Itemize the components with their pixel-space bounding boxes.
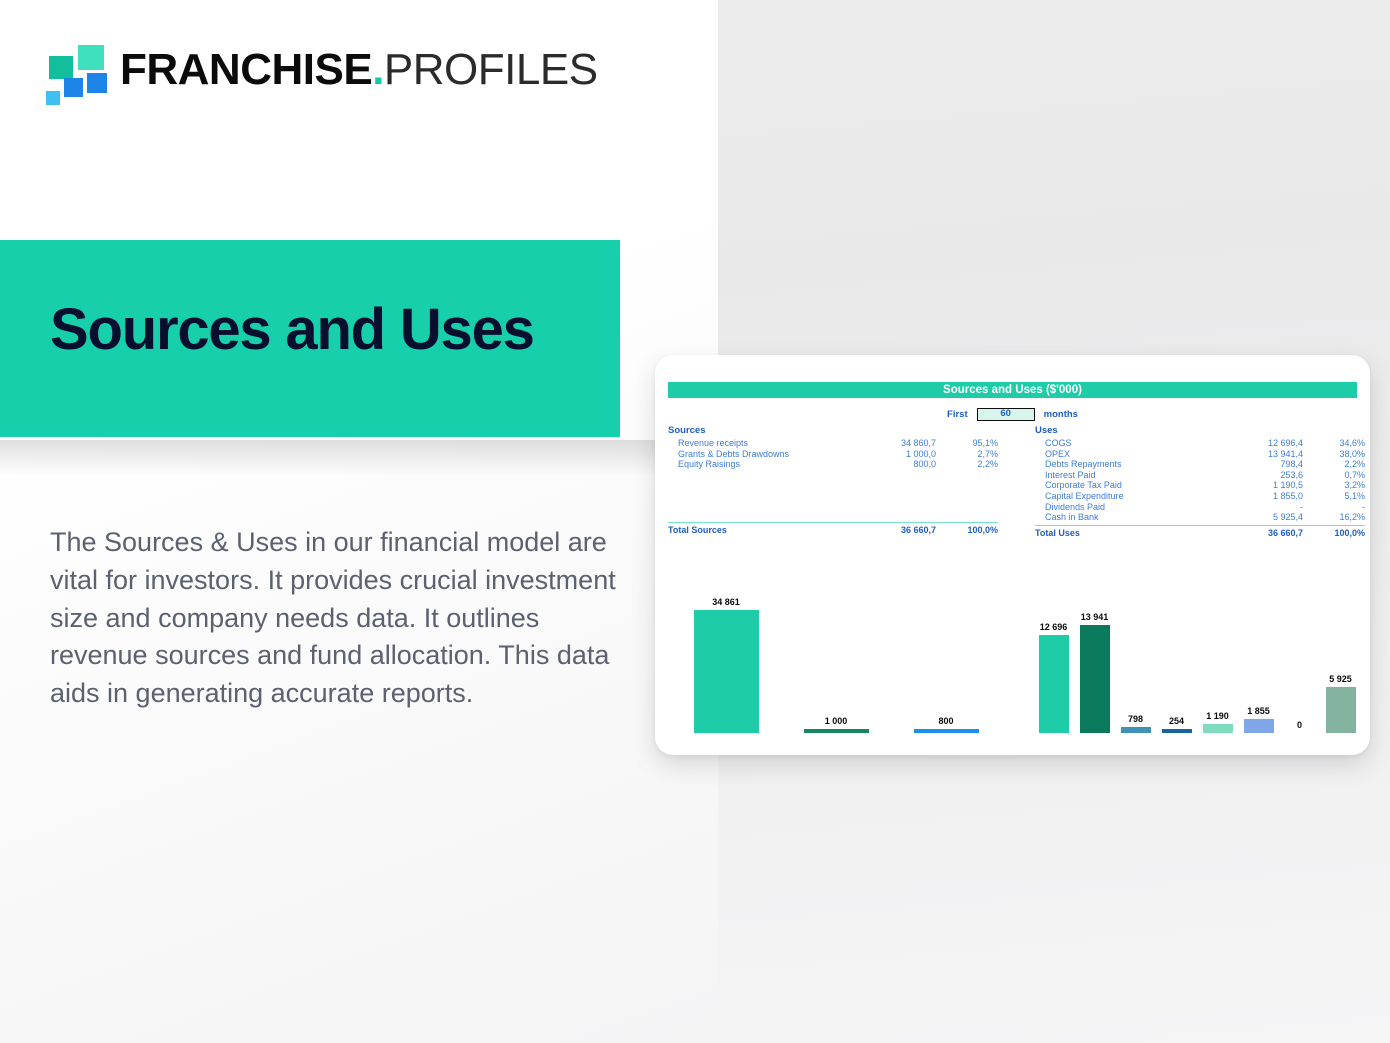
bar-value-label: 254 xyxy=(1169,716,1184,726)
logo-square-teal-dark xyxy=(49,56,73,79)
row-percent: 16,2% xyxy=(1303,512,1365,523)
row-percent: 95,1% xyxy=(936,438,998,449)
sources-heading: Sources xyxy=(668,425,998,436)
sources-bars: 34 8611 000800 xyxy=(671,583,1001,733)
bar xyxy=(1039,635,1069,733)
bar-group: 34 861 xyxy=(671,583,781,733)
row-percent: 3,2% xyxy=(1303,480,1365,491)
row-label: Grants & Debts Drawdowns xyxy=(668,449,852,460)
bar-group: 12 696 xyxy=(1033,583,1074,733)
row-value: 1 855,0 xyxy=(1219,491,1303,502)
bar-value-label: 34 861 xyxy=(712,597,740,607)
bar xyxy=(1121,727,1151,733)
bar-value-label: 798 xyxy=(1128,714,1143,724)
sheet-title-bar: Sources and Uses ($'000) xyxy=(668,382,1357,398)
table-row: Equity Raisings800,02,2% xyxy=(668,459,998,470)
row-percent: 2,2% xyxy=(936,459,998,470)
bar-value-label: 1 190 xyxy=(1206,711,1229,721)
row-percent: 2,7% xyxy=(936,449,998,460)
uses-rows: COGS12 696,434,6%OPEX13 941,438,0%Debts … xyxy=(1035,438,1365,523)
bar-value-label: 13 941 xyxy=(1081,612,1109,622)
bar-group: 0 xyxy=(1279,583,1320,733)
bar-group: 1 855 xyxy=(1238,583,1279,733)
table-row: Capital Expenditure1 855,05,1% xyxy=(1035,491,1365,502)
uses-bars: 12 69613 9417982541 1901 85505 925 xyxy=(1033,583,1363,733)
row-label: Capital Expenditure xyxy=(1035,491,1219,502)
logo-square-cyan-small xyxy=(46,91,60,105)
bar-group: 800 xyxy=(891,583,1001,733)
sources-total-label: Total Sources xyxy=(668,524,852,536)
uses-total-value: 36 660,7 xyxy=(1219,527,1303,539)
row-percent: - xyxy=(1303,502,1365,513)
page-title: Sources and Uses xyxy=(50,300,534,361)
row-label: Revenue receipts xyxy=(668,438,852,449)
hero-banner: Sources and Uses xyxy=(0,240,620,437)
logo-squares-icon xyxy=(46,44,108,96)
uses-table: Uses COGS12 696,434,6%OPEX13 941,438,0%D… xyxy=(1035,425,1365,539)
table-row: COGS12 696,434,6% xyxy=(1035,438,1365,449)
bar-group: 1 190 xyxy=(1197,583,1238,733)
bar-group: 254 xyxy=(1156,583,1197,733)
row-value: 12 696,4 xyxy=(1219,438,1303,449)
bar xyxy=(694,610,759,733)
uses-total-label: Total Uses xyxy=(1035,527,1219,539)
bar-value-label: 800 xyxy=(938,716,953,726)
row-percent: 0,7% xyxy=(1303,470,1365,481)
sources-table: Sources Revenue receipts34 860,795,1%Gra… xyxy=(668,425,998,536)
row-value: 798,4 xyxy=(1219,459,1303,470)
row-value: 34 860,7 xyxy=(852,438,936,449)
body-paragraph: The Sources & Uses in our financial mode… xyxy=(50,524,620,713)
row-label: Cash in Bank xyxy=(1035,512,1219,523)
row-label: Equity Raisings xyxy=(668,459,852,470)
background-left-panel xyxy=(0,0,718,1043)
bar xyxy=(1326,687,1356,733)
row-value: - xyxy=(1219,502,1303,513)
bar-group: 5 925 xyxy=(1320,583,1361,733)
sources-bar-chart: 34 8611 000800 xyxy=(671,583,1001,733)
bar xyxy=(1080,625,1110,733)
row-value: 800,0 xyxy=(852,459,936,470)
brand-logo: FRANCHISE.PROFILES xyxy=(46,44,598,96)
row-value: 1 000,0 xyxy=(852,449,936,460)
bar xyxy=(1244,719,1274,733)
table-row: Interest Paid253,60,7% xyxy=(1035,470,1365,481)
sources-total-pct: 100,0% xyxy=(936,524,998,536)
logo-square-blue-mid xyxy=(64,78,83,97)
bar xyxy=(804,729,869,733)
table-row: Cash in Bank5 925,416,2% xyxy=(1035,512,1365,523)
row-value: 1 190,5 xyxy=(1219,480,1303,491)
sources-total-row: Total Sources 36 660,7 100,0% xyxy=(668,522,998,536)
period-selector[interactable]: First 60 months xyxy=(668,406,1357,422)
bar xyxy=(914,729,979,733)
brand-name-bold: FRANCHISE xyxy=(120,45,372,94)
bar-value-label: 12 696 xyxy=(1040,622,1068,632)
table-row: Corporate Tax Paid1 190,53,2% xyxy=(1035,480,1365,491)
table-row: Debts Repayments798,42,2% xyxy=(1035,459,1365,470)
table-row: Grants & Debts Drawdowns1 000,02,7% xyxy=(668,449,998,460)
row-label: Dividends Paid xyxy=(1035,502,1219,513)
period-months-input[interactable]: 60 xyxy=(977,408,1035,421)
row-label: Debts Repayments xyxy=(1035,459,1219,470)
row-percent: 5,1% xyxy=(1303,491,1365,502)
row-label: Interest Paid xyxy=(1035,470,1219,481)
bar-value-label: 5 925 xyxy=(1329,674,1352,684)
logo-square-blue-right xyxy=(87,73,107,93)
brand-dot: . xyxy=(372,45,384,94)
period-suffix-label: months xyxy=(1044,409,1078,420)
bar-group: 798 xyxy=(1115,583,1156,733)
uses-total-row: Total Uses 36 660,7 100,0% xyxy=(1035,525,1365,539)
table-row: OPEX13 941,438,0% xyxy=(1035,449,1365,460)
table-row: Dividends Paid-- xyxy=(1035,502,1365,513)
spreadsheet-card: Sources and Uses ($'000) First 60 months… xyxy=(655,355,1370,755)
row-label: COGS xyxy=(1035,438,1219,449)
sources-spacer xyxy=(668,470,998,520)
row-percent: 2,2% xyxy=(1303,459,1365,470)
row-value: 13 941,4 xyxy=(1219,449,1303,460)
uses-total-pct: 100,0% xyxy=(1303,527,1365,539)
bar xyxy=(1162,729,1192,733)
period-prefix-label: First xyxy=(947,409,968,420)
table-row: Revenue receipts34 860,795,1% xyxy=(668,438,998,449)
logo-square-teal-light xyxy=(78,45,104,70)
uses-heading: Uses xyxy=(1035,425,1365,436)
row-percent: 38,0% xyxy=(1303,449,1365,460)
row-value: 5 925,4 xyxy=(1219,512,1303,523)
bar-group: 1 000 xyxy=(781,583,891,733)
bar-group: 13 941 xyxy=(1074,583,1115,733)
bar-value-label: 1 000 xyxy=(825,716,848,726)
brand-name-light: PROFILES xyxy=(384,45,598,94)
sources-total-value: 36 660,7 xyxy=(852,524,936,536)
row-label: OPEX xyxy=(1035,449,1219,460)
row-label: Corporate Tax Paid xyxy=(1035,480,1219,491)
uses-bar-chart: 12 69613 9417982541 1901 85505 925 xyxy=(1033,583,1363,733)
bar-value-label: 1 855 xyxy=(1247,706,1270,716)
row-value: 253,6 xyxy=(1219,470,1303,481)
bar-value-label: 0 xyxy=(1297,720,1302,730)
brand-wordmark: FRANCHISE.PROFILES xyxy=(120,48,598,92)
row-percent: 34,6% xyxy=(1303,438,1365,449)
sources-rows: Revenue receipts34 860,795,1%Grants & De… xyxy=(668,438,998,470)
bar xyxy=(1203,724,1233,733)
